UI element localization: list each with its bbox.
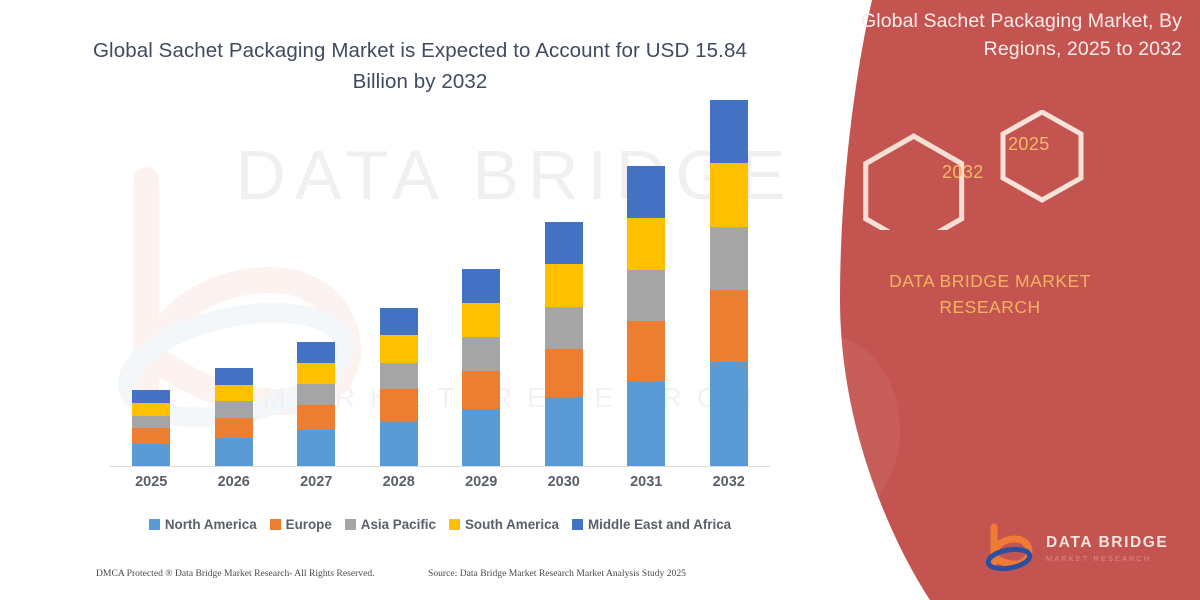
bar-2032 — [710, 100, 748, 466]
bar-segment-asia-pacific — [710, 227, 748, 290]
bar-segment-asia-pacific — [132, 416, 170, 429]
legend-item-south-america[interactable]: South America — [449, 517, 559, 532]
legend-swatch-icon — [149, 519, 160, 530]
infographic-canvas: DATA BRIDGE MARKET RESEARCH Global Sache… — [0, 0, 1200, 600]
right-panel: Global Sachet Packaging Market, By Regio… — [780, 0, 1200, 600]
hexagon-group: 2032 2025 — [780, 110, 1200, 230]
hexagon-2025 — [1003, 112, 1081, 200]
bar-2030 — [545, 222, 583, 466]
bar-segment-europe — [627, 321, 665, 381]
bar-segment-south-america — [297, 363, 335, 384]
bar-segment-north-america — [462, 409, 500, 466]
bar-segment-europe — [710, 290, 748, 362]
bar-segment-south-america — [627, 218, 665, 270]
bar-segment-europe — [545, 349, 583, 397]
bar-segment-europe — [215, 418, 253, 438]
x-axis-line — [110, 466, 770, 467]
chart-panel: DATA BRIDGE MARKET RESEARCH Global Sache… — [0, 0, 830, 600]
dbmr-logo-name: DATA BRIDGE — [1046, 535, 1168, 551]
dbmr-logo-text: DATA BRIDGE MARKET RESEARCH — [1046, 535, 1168, 562]
x-label-2031: 2031 — [611, 474, 681, 490]
bar-segment-south-america — [462, 303, 500, 337]
x-axis-labels: 20252026202720282029203020312032 — [110, 474, 770, 498]
bar-segment-north-america — [545, 397, 583, 466]
bar-segment-middle-east-and-africa — [710, 100, 748, 163]
chart-title: Global Sachet Packaging Market is Expect… — [70, 36, 770, 98]
dbmr-logo-subtitle: MARKET RESEARCH — [1046, 555, 1168, 563]
legend-item-north-america[interactable]: North America — [149, 517, 257, 532]
legend-label: Asia Pacific — [361, 517, 436, 532]
x-label-2032: 2032 — [694, 474, 764, 490]
bar-segment-middle-east-and-africa — [215, 368, 253, 385]
dbmr-logo: DATA BRIDGE MARKET RESEARCH — [982, 520, 1182, 578]
bar-segment-middle-east-and-africa — [380, 308, 418, 335]
brand-line-2: RESEARCH — [780, 294, 1200, 320]
x-label-2027: 2027 — [281, 474, 351, 490]
bar-2026 — [215, 368, 253, 466]
bar-segment-asia-pacific — [215, 401, 253, 417]
footer-source: Source: Data Bridge Market Research Mark… — [428, 568, 686, 579]
legend-label: Middle East and Africa — [588, 517, 731, 532]
footer: DMCA Protected ® Data Bridge Market Rese… — [0, 566, 830, 596]
bar-2025 — [132, 390, 170, 466]
bar-segment-europe — [380, 389, 418, 420]
bar-segment-middle-east-and-africa — [132, 390, 170, 403]
bar-segment-north-america — [627, 381, 665, 466]
bar-segment-north-america — [297, 430, 335, 466]
x-label-2026: 2026 — [199, 474, 269, 490]
chart-legend: North AmericaEuropeAsia PacificSouth Ame… — [110, 512, 770, 536]
bar-segment-south-america — [710, 163, 748, 227]
panel-title: Global Sachet Packaging Market, By Regio… — [852, 8, 1182, 63]
x-label-2028: 2028 — [364, 474, 434, 490]
hexagon-2032 — [866, 136, 962, 230]
legend-label: South America — [465, 517, 559, 532]
legend-item-europe[interactable]: Europe — [270, 517, 332, 532]
bar-2031 — [627, 166, 665, 466]
bar-plot — [110, 120, 770, 466]
bar-segment-south-america — [545, 264, 583, 306]
bar-segment-asia-pacific — [380, 363, 418, 390]
bar-segment-europe — [462, 371, 500, 410]
bar-segment-middle-east-and-africa — [627, 166, 665, 218]
bar-segment-north-america — [132, 444, 170, 466]
bar-segment-asia-pacific — [545, 307, 583, 349]
legend-swatch-icon — [449, 519, 460, 530]
bar-segment-south-america — [380, 335, 418, 362]
bar-2027 — [297, 341, 335, 466]
bar-segment-north-america — [215, 438, 253, 466]
legend-label: North America — [165, 517, 257, 532]
hexagon-2025-label: 2025 — [1008, 134, 1050, 155]
brand-line-1: DATA BRIDGE MARKET — [780, 268, 1200, 294]
bar-segment-middle-east-and-africa — [297, 342, 335, 363]
legend-swatch-icon — [345, 519, 356, 530]
bar-segment-middle-east-and-africa — [462, 269, 500, 303]
hexagon-2032-label: 2032 — [942, 162, 984, 183]
legend-swatch-icon — [572, 519, 583, 530]
legend-item-asia-pacific[interactable]: Asia Pacific — [345, 517, 436, 532]
x-label-2029: 2029 — [446, 474, 516, 490]
footer-copyright: DMCA Protected ® Data Bridge Market Rese… — [96, 568, 375, 579]
brand-name: DATA BRIDGE MARKET RESEARCH — [780, 268, 1200, 321]
legend-label: Europe — [286, 517, 332, 532]
legend-swatch-icon — [270, 519, 281, 530]
bar-segment-middle-east-and-africa — [545, 222, 583, 264]
bar-segment-north-america — [710, 362, 748, 466]
bar-segment-europe — [132, 428, 170, 444]
bar-segment-south-america — [215, 385, 253, 402]
dbmr-logo-mark — [982, 523, 1038, 575]
bar-segment-north-america — [380, 421, 418, 466]
x-label-2025: 2025 — [116, 474, 186, 490]
x-label-2030: 2030 — [529, 474, 599, 490]
bar-segment-asia-pacific — [627, 270, 665, 321]
bar-2029 — [462, 269, 500, 466]
bar-segment-asia-pacific — [462, 337, 500, 371]
bar-2028 — [380, 308, 418, 466]
bar-segment-europe — [297, 405, 335, 430]
legend-item-middle-east-and-africa[interactable]: Middle East and Africa — [572, 517, 731, 532]
bar-segment-asia-pacific — [297, 384, 335, 405]
bar-segment-south-america — [132, 403, 170, 416]
